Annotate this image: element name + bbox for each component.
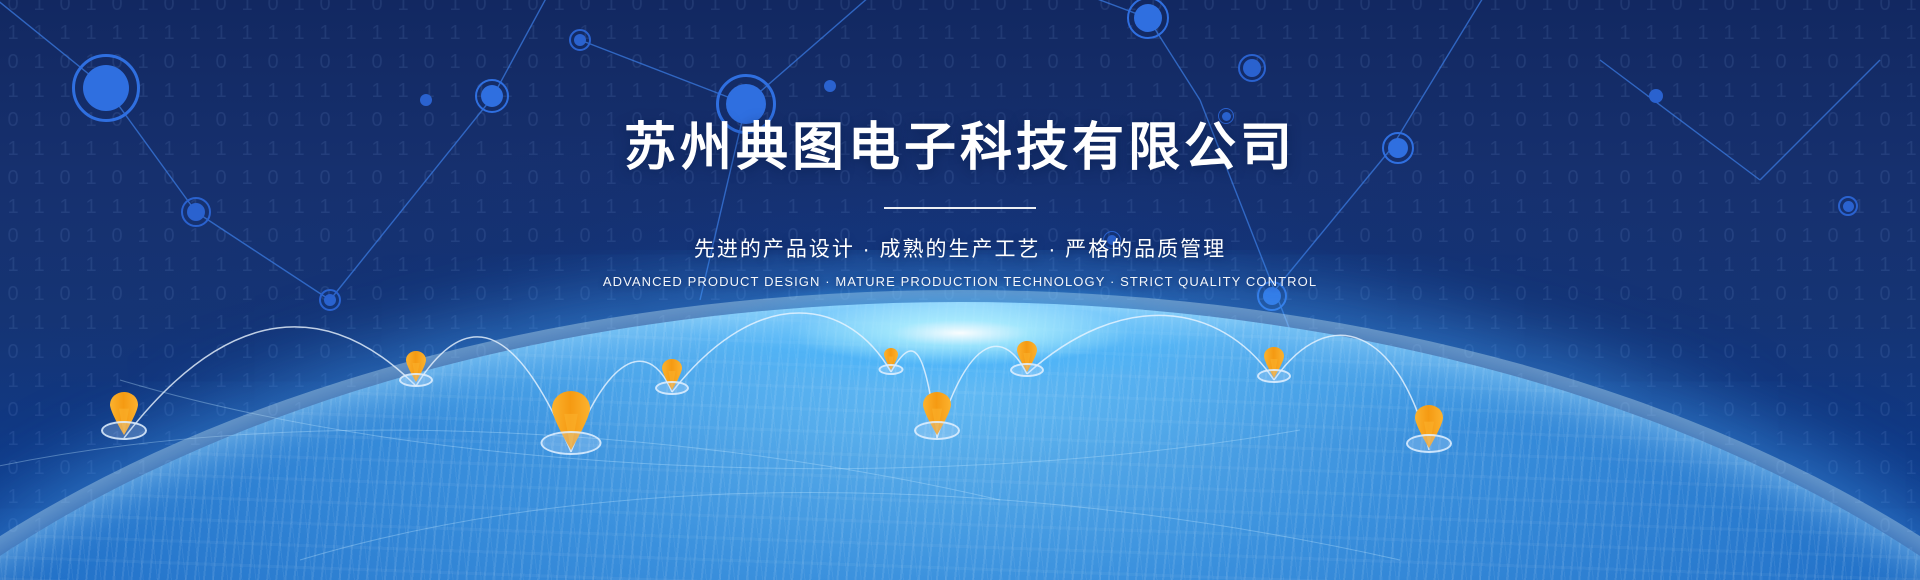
network-node [475,79,509,113]
network-node [1382,132,1414,164]
network-node [1103,231,1121,249]
network-node [1127,0,1169,39]
network-node [1238,54,1266,82]
network-node [716,74,776,134]
network-node [72,54,140,122]
network-node [1218,108,1234,124]
network-node [420,94,432,106]
network-node [824,80,836,92]
company-hero-banner: 0 1 0 1 0 1 0 1 0 1 0 1 0 1 0 1 0 1 0 1 … [0,0,1920,580]
page-title: 苏州典图电子科技有限公司 [0,118,1920,179]
network-node [569,29,591,51]
network-node [1649,89,1663,103]
network-node [181,197,211,227]
earth-globe [0,250,1920,580]
title-divider [884,207,1036,209]
network-node [1838,196,1858,216]
globe-surface-texture [0,302,1920,580]
